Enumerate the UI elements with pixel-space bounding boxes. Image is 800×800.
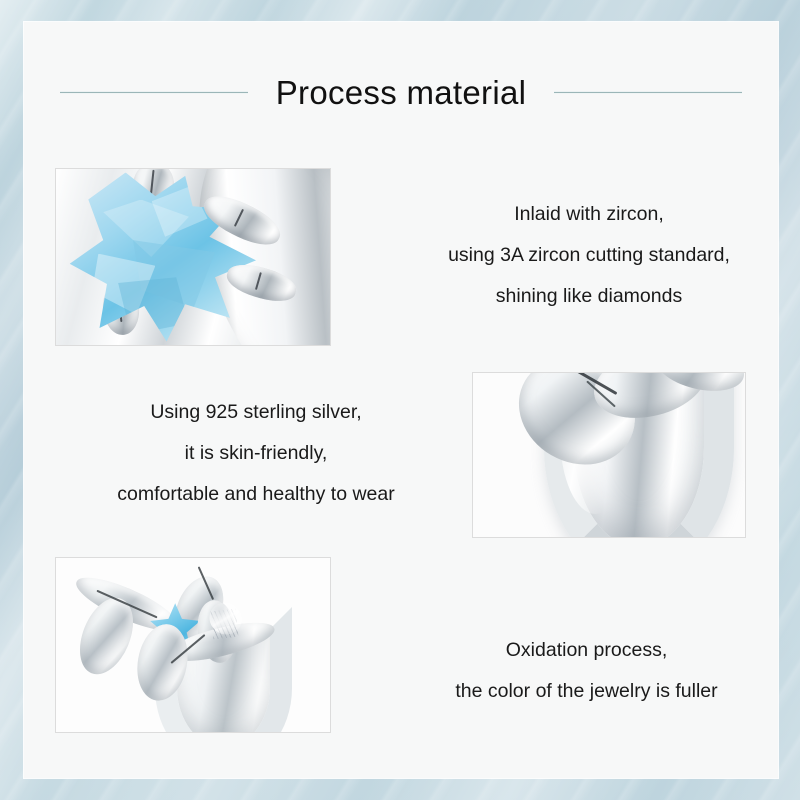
full-ring-illustration [56,558,330,732]
feature-text-silver: Using 925 sterling silver, it is skin-fr… [46,392,466,515]
feature-line: Using 925 sterling silver, [46,392,466,433]
feature-line: it is skin-friendly, [46,433,466,474]
title-rule-right-icon [554,91,742,94]
page-header: Process material [24,64,778,120]
content-card: Process material [24,22,778,778]
feature-line: the color of the jewelry is fuller [414,671,759,712]
feature-text-oxidation: Oxidation process, the color of the jewe… [414,630,759,712]
zircon-illustration [56,169,330,345]
feature-line: using 3A zircon cutting standard, [424,235,754,276]
silver-band-illustration [473,373,745,537]
feature-image-zircon [55,168,331,346]
product-detail-page: Process material [0,0,800,800]
feature-line: Oxidation process, [414,630,759,671]
feature-line: shining like diamonds [424,276,754,317]
feature-image-silver [472,372,746,538]
feature-line: comfortable and healthy to wear [46,474,466,515]
page-title: Process material [276,76,527,109]
feature-text-zircon: Inlaid with zircon, using 3A zircon cutt… [424,194,754,317]
title-rule-left-icon [60,91,248,94]
feature-line: Inlaid with zircon, [424,194,754,235]
feature-image-oxidation [55,557,331,733]
